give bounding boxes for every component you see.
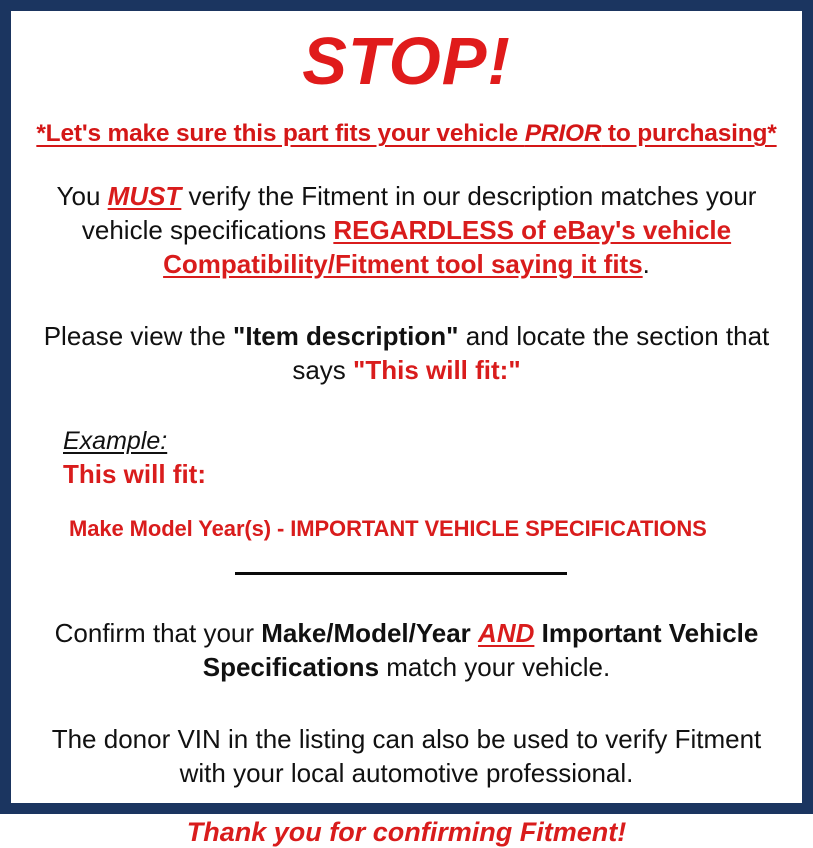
page-title: STOP! — [23, 27, 790, 97]
must-paragraph-seg1: You — [57, 181, 108, 211]
item-desc-seg1: Please view the — [44, 321, 233, 351]
subtitle-prefix: *Let's make sure this part fits your veh… — [36, 120, 524, 147]
subtitle-suffix: to purchasing* — [601, 120, 776, 147]
confirm-space-1 — [471, 618, 478, 648]
section-divider — [235, 572, 567, 575]
example-block: Example: This will fit: Make Model Year(… — [23, 427, 790, 542]
divider-wrap — [23, 567, 790, 581]
confirm-seg1: Confirm that your — [55, 618, 262, 648]
confirm-space-2 — [534, 618, 541, 648]
example-label: Example: — [63, 427, 167, 456]
donor-vin-paragraph: The donor VIN in the listing can also be… — [23, 723, 790, 791]
notice-content: STOP! *Let's make sure this part fits yo… — [11, 11, 802, 803]
must-keyword: MUST — [108, 181, 182, 211]
this-will-fit-quote: "This will fit:" — [353, 355, 521, 385]
confirm-seg2: match your vehicle. — [379, 652, 610, 682]
and-keyword: AND — [478, 618, 534, 648]
confirm-paragraph: Confirm that your Make/Model/Year AND Im… — [23, 617, 790, 685]
fitment-notice-card: STOP! *Let's make sure this part fits yo… — [0, 0, 813, 814]
must-verify-paragraph: You MUST verify the Fitment in our descr… — [23, 180, 790, 281]
subtitle-emphasis-prior: PRIOR — [525, 120, 602, 147]
example-label-row: Example: — [63, 427, 790, 456]
item-description-quote: "Item description" — [233, 321, 458, 351]
example-fit-heading: This will fit: — [63, 459, 790, 490]
must-paragraph-period: . — [643, 249, 650, 279]
item-description-paragraph: Please view the "Item description" and l… — [23, 320, 790, 388]
example-spec-line: Make Model Year(s) - IMPORTANT VEHICLE S… — [63, 516, 790, 542]
subtitle-banner: *Let's make sure this part fits your veh… — [23, 120, 790, 148]
make-model-year-bold: Make/Model/Year — [261, 618, 471, 648]
thank-you-message: Thank you for confirming Fitment! — [23, 817, 790, 848]
